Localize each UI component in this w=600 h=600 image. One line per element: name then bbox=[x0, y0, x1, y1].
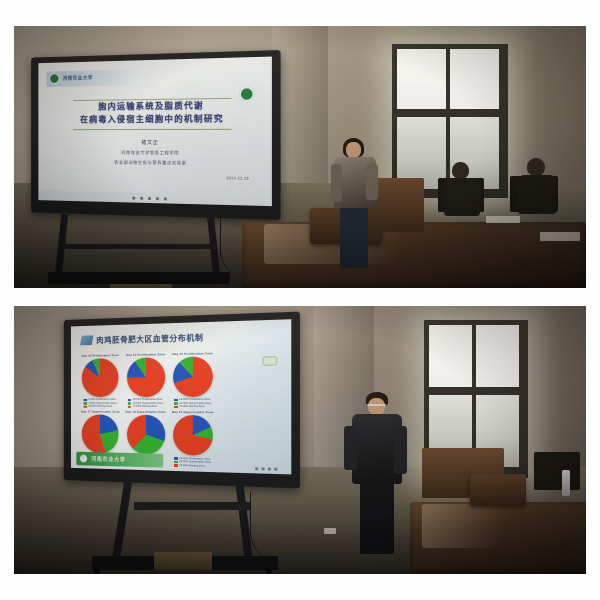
pie-chart-6-title: Day 21 Hypertrophic Zone bbox=[172, 410, 214, 414]
pie-chart-grid: Day 11 Proliferative Zone 8.00% Prolifer… bbox=[79, 350, 217, 454]
pie-chart-4-title: Day 17 Hypertrophic Zone bbox=[81, 410, 120, 414]
window-2-pane-upper-right bbox=[476, 325, 519, 387]
slide-affiliation-1: 河南农业大学牧医工程学院 bbox=[38, 150, 271, 158]
presenter-arm-left bbox=[331, 164, 342, 202]
taskbar-2-icon-3[interactable] bbox=[268, 467, 271, 470]
room-top: 河南农业大学 胞内运输系统及脂质代谢 在病毒入侵宿主细胞中的机制研究 褚文正 河… bbox=[14, 26, 586, 288]
legend-swatch-blue bbox=[84, 399, 87, 401]
slide-2-header: 肉鸡胚骨肥大区血管分布机制 bbox=[81, 326, 280, 350]
presenter-2-face bbox=[368, 398, 385, 415]
glasses-icon bbox=[367, 404, 386, 406]
slide-rule-bottom bbox=[73, 129, 232, 130]
screen-stand-base bbox=[48, 272, 230, 284]
chair-2-left bbox=[470, 474, 526, 506]
photo-bottom: 肉鸡胚骨肥大区血管分布机制 Day 11 Proliferative Zone … bbox=[14, 306, 586, 574]
taskbar-icon-1[interactable] bbox=[133, 196, 136, 199]
cart-wheel-right bbox=[266, 568, 272, 574]
slide-footer-text: 河南农业大学 bbox=[91, 455, 125, 464]
presenter-face bbox=[346, 142, 361, 158]
window-2-pane-upper-left bbox=[429, 325, 472, 387]
legend-swatch-green bbox=[128, 402, 131, 404]
taskbar-icon-2[interactable] bbox=[141, 196, 144, 199]
water-bottle bbox=[562, 470, 570, 496]
audience-1-head bbox=[452, 162, 469, 179]
legend-row: 85.00% Resting Zone bbox=[84, 405, 117, 408]
table-notebook bbox=[540, 232, 580, 241]
cart-wheel-left bbox=[94, 568, 100, 574]
photo-top: 河南农业大学 胞内运输系统及脂质代谢 在病毒入侵宿主细胞中的机制研究 褚文正 河… bbox=[14, 26, 586, 288]
legend-row: 75.00% Resting Zone bbox=[128, 405, 164, 408]
university-seal-icon-2 bbox=[79, 454, 88, 464]
screen-surface-2: 肉鸡胚骨肥大区血管分布机制 Day 11 Proliferative Zone … bbox=[71, 319, 292, 474]
slide-badge-icon bbox=[80, 336, 94, 346]
audience-member-1 bbox=[444, 162, 480, 216]
legend-swatch-red bbox=[174, 464, 177, 467]
floor-paper bbox=[324, 528, 336, 534]
legend-swatch-green bbox=[174, 402, 177, 405]
audience-2-body bbox=[518, 175, 556, 214]
university-seal-icon bbox=[50, 74, 60, 85]
pie-chart-6-legend: 18.00% Proliferative Zone 10.00% Hypertr… bbox=[174, 457, 211, 468]
pie-chart-6-figure bbox=[173, 415, 213, 456]
legend-swatch-green bbox=[84, 402, 87, 404]
pie-chart-1-title: Day 11 Proliferative Zone bbox=[82, 353, 119, 358]
slide-footer-banner: 河南农业大学 bbox=[77, 452, 164, 467]
cart-shelf bbox=[134, 502, 250, 510]
slide-date: 2019.11.28 bbox=[226, 176, 249, 180]
taskbar-icon-4[interactable] bbox=[156, 197, 159, 200]
presenter-legs bbox=[340, 208, 368, 268]
slide-2-title: 肉鸡胚骨肥大区血管分布机制 bbox=[96, 332, 203, 346]
pie-chart-1-figure bbox=[82, 358, 119, 397]
pie-chart-4-figure bbox=[82, 415, 119, 454]
taskbar-icon-5[interactable] bbox=[164, 197, 167, 200]
pie-chart-5-figure bbox=[127, 415, 165, 455]
screen-stand-crossbar bbox=[62, 244, 216, 249]
audience-member-2 bbox=[518, 158, 556, 214]
window-pane-upper-right bbox=[450, 49, 499, 109]
screen-taskbar-2[interactable] bbox=[255, 467, 277, 471]
legend-row: 72.00% Resting Zone bbox=[174, 464, 211, 468]
window-2-mullion-horizontal bbox=[427, 387, 525, 395]
legend-swatch-blue bbox=[128, 399, 131, 401]
legend-label: 75.00% Resting Zone bbox=[133, 405, 158, 408]
display-screen-top: 河南农业大学 胞内运输系统及脂质代谢 在病毒入侵宿主细胞中的机制研究 褚文正 河… bbox=[31, 50, 280, 220]
taskbar-icon-3[interactable] bbox=[149, 196, 152, 199]
presenter-arm-right bbox=[366, 164, 378, 200]
slide-banner-text: 河南农业大学 bbox=[63, 75, 93, 82]
slide-author: 褚文正 bbox=[38, 139, 271, 147]
legend-swatch-blue bbox=[174, 457, 177, 460]
pie-chart-1: Day 11 Proliferative Zone 8.00% Prolifer… bbox=[79, 352, 122, 408]
slide-2-corner-mark-icon bbox=[262, 356, 277, 366]
taskbar-2-icon-1[interactable] bbox=[255, 467, 258, 470]
legend-label: 70.00% Resting Zone bbox=[179, 405, 205, 408]
room-bottom: 肉鸡胚骨肥大区血管分布机制 Day 11 Proliferative Zone … bbox=[14, 306, 586, 574]
legend-swatch-red bbox=[128, 405, 131, 407]
pie-chart-2: Day 13 Proliferative Zone 15.00% Prolife… bbox=[123, 351, 168, 408]
presenter-2-arm-left bbox=[344, 426, 357, 470]
presenter-2-arm-right bbox=[394, 426, 407, 474]
presenter-male bbox=[348, 392, 406, 556]
audience-1-body bbox=[444, 178, 480, 216]
taskbar-2-icon-2[interactable] bbox=[261, 467, 264, 470]
screen-surface: 河南农业大学 胞内运输系统及脂质代谢 在病毒入侵宿主细胞中的机制研究 褚文正 河… bbox=[38, 57, 271, 206]
presenter-2-legs bbox=[360, 482, 394, 554]
display-screen-bottom: 肉鸡胚骨肥大区血管分布机制 Day 11 Proliferative Zone … bbox=[64, 312, 300, 489]
taskbar-2-icon-4[interactable] bbox=[274, 467, 277, 470]
pie-chart-3-figure bbox=[173, 356, 213, 397]
pie-chart-1-legend: 8.00% Proliferative Zone 7.00% Hypertrop… bbox=[84, 398, 117, 408]
pie-chart-5-title: Day 19 Hypertrophic Zone bbox=[126, 410, 166, 414]
pie-chart-3-title: Day 15 Proliferative Zone bbox=[172, 351, 213, 356]
legend-label: 85.00% Resting Zone bbox=[89, 405, 113, 408]
slide-title-page: 河南农业大学 胞内运输系统及脂质代谢 在病毒入侵宿主细胞中的机制研究 褚文正 河… bbox=[38, 57, 271, 206]
legend-swatch-green bbox=[174, 461, 177, 464]
legend-swatch-red bbox=[84, 405, 87, 407]
pie-chart-2-figure bbox=[127, 357, 165, 397]
presenter-female bbox=[330, 138, 380, 270]
legend-swatch-blue bbox=[174, 399, 177, 402]
slide-title: 胞内运输系统及脂质代谢 在病毒入侵宿主细胞中的机制研究 bbox=[56, 99, 252, 126]
pie-chart-2-title: Day 13 Proliferative Zone bbox=[126, 352, 165, 357]
legend-label: 72.00% Resting Zone bbox=[179, 464, 205, 468]
pie-chart-3: Day 15 Proliferative Zone 18.00% Prolife… bbox=[169, 350, 216, 408]
slide-banner: 河南农业大学 bbox=[47, 69, 144, 86]
pie-chart-2-legend: 15.00% Proliferative Zone 10.00% Hypertr… bbox=[128, 398, 164, 408]
pie-chart-3-legend: 18.00% Proliferative Zone 12.00% Hypertr… bbox=[174, 398, 211, 408]
cardboard-box bbox=[110, 284, 172, 288]
table-reflection-2 bbox=[422, 504, 572, 548]
slide-pie-charts: 肉鸡胚骨肥大区血管分布机制 Day 11 Proliferative Zone … bbox=[71, 319, 292, 474]
chair-2-right bbox=[534, 452, 580, 490]
slide-title-line-2: 在病毒入侵宿主细胞中的机制研究 bbox=[56, 112, 252, 126]
window-pane-upper-left bbox=[397, 49, 446, 109]
table-papers bbox=[486, 216, 520, 223]
legend-swatch-red bbox=[174, 406, 177, 409]
pie-chart-6: Day 21 Hypertrophic Zone 18.00% Prolifer… bbox=[169, 409, 216, 468]
photo-collage: 河南农业大学 胞内运输系统及脂质代谢 在病毒入侵宿主细胞中的机制研究 褚文正 河… bbox=[0, 0, 600, 600]
audience-2-head bbox=[527, 158, 545, 176]
slide-affiliation-2: 农业部动物生化与营养重点实验室 bbox=[38, 159, 271, 167]
window-mullion-horizontal bbox=[395, 109, 505, 117]
legend-row: 70.00% Resting Zone bbox=[174, 405, 211, 408]
cardboard-box-2 bbox=[154, 552, 212, 570]
